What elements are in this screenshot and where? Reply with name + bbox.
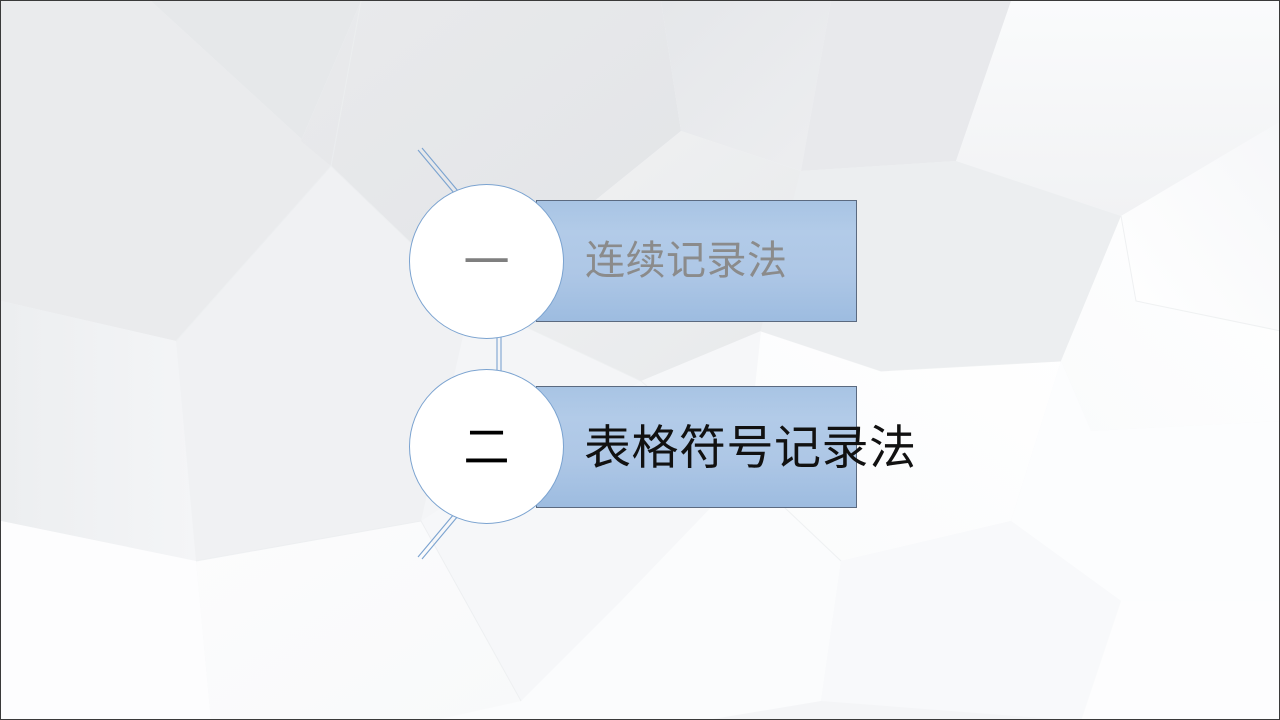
step-bar-2[interactable]: 表格符号记录法 xyxy=(536,386,857,508)
step-number-2: 二 xyxy=(464,424,510,470)
middle-connector-icon xyxy=(497,334,501,374)
step-bar-1[interactable]: 连续记录法 xyxy=(536,200,857,322)
top-flourish-icon xyxy=(418,148,458,193)
step-label-1: 连续记录法 xyxy=(585,241,788,281)
process-diagram: 连续记录法 一 表格符号记录法 二 xyxy=(1,1,1280,720)
step-circle-2[interactable]: 二 xyxy=(409,369,564,524)
step-label-2: 表格符号记录法 xyxy=(584,424,917,471)
bottom-flourish-icon xyxy=(418,514,458,559)
step-circle-1[interactable]: 一 xyxy=(409,184,564,339)
slide-canvas: 连续记录法 一 表格符号记录法 二 xyxy=(0,0,1280,720)
step-number-1: 一 xyxy=(464,239,510,285)
